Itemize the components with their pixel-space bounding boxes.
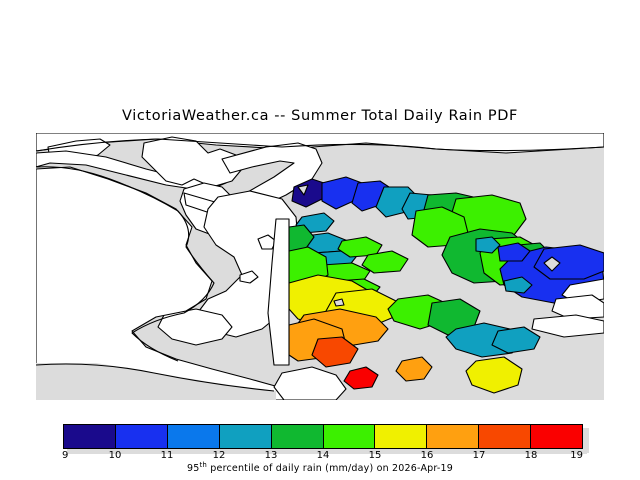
- caption-prefix: 95: [187, 463, 200, 474]
- colorbar-tick-14: 14: [317, 450, 330, 461]
- caption-rest: percentile of daily rain (mm/day) on 202…: [207, 463, 453, 474]
- colorbar-segment-11-12[interactable]: [168, 425, 220, 448]
- colorbar-tick-19: 19: [570, 450, 583, 461]
- colorbar-segment-9-10[interactable]: [64, 425, 116, 448]
- colorbar-segment-15-16[interactable]: [375, 425, 427, 448]
- colorbar-tick-9: 9: [62, 450, 68, 461]
- colorbar-tick-11: 11: [161, 450, 174, 461]
- colorbar-segment-17-18[interactable]: [479, 425, 531, 448]
- colorbar[interactable]: [63, 424, 583, 449]
- colorbar-segment-10-11[interactable]: [116, 425, 168, 448]
- colorbar-tick-12: 12: [213, 450, 226, 461]
- page-title: VictoriaWeather.ca -- Summer Total Daily…: [0, 108, 640, 124]
- colorbar-segment-12-13[interactable]: [220, 425, 272, 448]
- colorbar-segment-18-19[interactable]: [531, 425, 582, 448]
- colorbar-segment-14-15[interactable]: [324, 425, 376, 448]
- colorbar-container[interactable]: [63, 424, 583, 449]
- colorbar-tick-16: 16: [421, 450, 434, 461]
- colorbar-tick-10: 10: [109, 450, 122, 461]
- caption-superscript: th: [199, 461, 207, 469]
- colorbar-segment-16-17[interactable]: [427, 425, 479, 448]
- colorbar-tick-13: 13: [265, 450, 278, 461]
- colorbar-tick-15: 15: [369, 450, 382, 461]
- rain-choropleth-map[interactable]: [36, 133, 604, 400]
- colorbar-tick-17: 17: [473, 450, 486, 461]
- map-panel[interactable]: [36, 133, 604, 400]
- colorbar-caption: 95th percentile of daily rain (mm/day) o…: [0, 461, 640, 474]
- colorbar-tick-18: 18: [525, 450, 538, 461]
- colorbar-segment-13-14[interactable]: [272, 425, 324, 448]
